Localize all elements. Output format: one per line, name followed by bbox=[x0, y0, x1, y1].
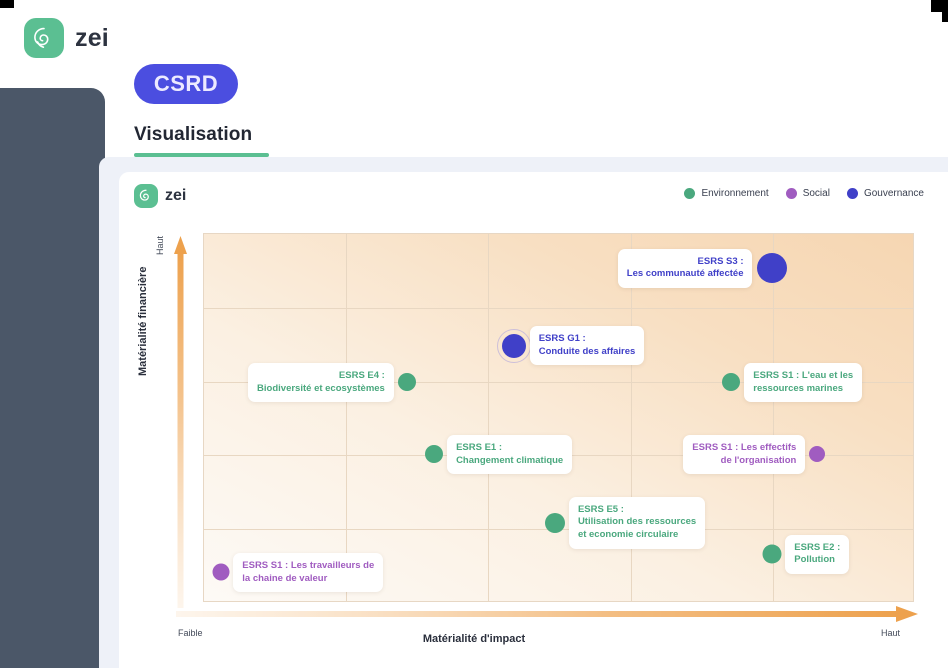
gridline-vertical bbox=[488, 234, 489, 601]
legend-item[interactable]: Gouvernance bbox=[847, 188, 924, 199]
legend-color-dot-icon bbox=[847, 188, 858, 199]
left-sidebar bbox=[0, 88, 105, 668]
legend-item[interactable]: Social bbox=[786, 188, 830, 199]
data-point-label-line: ESRS S1 : L'eau et les bbox=[753, 370, 853, 383]
data-point-label-line: Biodiversité et ecosystèmes bbox=[257, 383, 385, 396]
data-point-label[interactable]: ESRS G1 :Conduite des affaires bbox=[530, 326, 645, 365]
data-point-label[interactable]: ESRS S1 : Les travailleurs dela chaine d… bbox=[233, 553, 383, 592]
data-point-label[interactable]: ESRS E5 :Utilisation des ressourceset ec… bbox=[569, 497, 705, 549]
data-point-label-line: ESRS E2 : bbox=[794, 542, 840, 555]
data-point[interactable] bbox=[502, 334, 526, 358]
data-point-label[interactable]: ESRS E4 :Biodiversité et ecosystèmes bbox=[248, 363, 394, 402]
tab-visualisation[interactable]: Visualisation bbox=[134, 124, 252, 146]
zei-spiral-logo-icon-small bbox=[134, 184, 158, 208]
data-point-label-line: la chaine de valeur bbox=[242, 573, 374, 586]
x-axis-high-label: Haut bbox=[881, 628, 900, 638]
y-axis-title: Matérialité financière bbox=[137, 267, 149, 376]
data-point-label[interactable]: ESRS S1 : L'eau et lesressources marines bbox=[744, 363, 862, 402]
legend-item-label: Environnement bbox=[701, 188, 768, 199]
legend-color-dot-icon bbox=[786, 188, 797, 199]
app-brand: zei bbox=[24, 18, 109, 58]
y-axis-arrow-icon bbox=[174, 236, 187, 608]
data-point-label-line: ESRS E1 : bbox=[456, 442, 563, 455]
legend-item[interactable]: Environnement bbox=[684, 188, 768, 199]
x-axis-title: Matérialité d'impact bbox=[0, 633, 948, 645]
data-point-label-line: ESRS E4 : bbox=[257, 370, 385, 383]
csrd-badge[interactable]: CSRD bbox=[134, 64, 238, 104]
card-brand-name: zei bbox=[165, 187, 186, 205]
data-point[interactable] bbox=[425, 445, 443, 463]
data-point-label[interactable]: ESRS S1 : Les effectifsde l'organisation bbox=[683, 435, 805, 474]
data-point-label-line: ESRS S1 : Les effectifs bbox=[692, 442, 796, 455]
corner-mark-top-left bbox=[0, 0, 14, 8]
brand-name: zei bbox=[75, 24, 109, 53]
legend-item-label: Gouvernance bbox=[864, 188, 924, 199]
gridline-horizontal bbox=[204, 308, 913, 309]
legend-item-label: Social bbox=[803, 188, 830, 199]
data-point[interactable] bbox=[722, 373, 740, 391]
gridline-vertical bbox=[346, 234, 347, 601]
data-point[interactable] bbox=[762, 545, 781, 564]
data-point[interactable] bbox=[809, 446, 825, 462]
data-point-label-line: ESRS S3 : bbox=[627, 256, 744, 269]
data-point-label-line: ressources marines bbox=[753, 383, 853, 396]
data-point-label-line: et economie circulaire bbox=[578, 529, 696, 542]
card-brand: zei bbox=[134, 184, 186, 208]
data-point[interactable] bbox=[212, 564, 229, 581]
legend-color-dot-icon bbox=[684, 188, 695, 199]
chart-legend: EnvironnementSocialGouvernance bbox=[684, 188, 924, 199]
corner-mark-top-right bbox=[931, 0, 948, 12]
data-point-label-line: ESRS E5 : bbox=[578, 504, 696, 517]
app-root: zei CSRD Visualisation zei Environnement… bbox=[0, 0, 948, 668]
corner-mark-top-right-secondary bbox=[942, 12, 948, 22]
data-point-label-line: Utilisation des ressources bbox=[578, 516, 696, 529]
data-point-label-line: Changement climatique bbox=[456, 455, 563, 468]
data-point-label-line: Conduite des affaires bbox=[539, 346, 636, 359]
data-point[interactable] bbox=[545, 513, 565, 533]
data-point-label-line: Pollution bbox=[794, 554, 840, 567]
data-point[interactable] bbox=[398, 373, 416, 391]
data-point-label[interactable]: ESRS E2 :Pollution bbox=[785, 535, 849, 574]
data-point[interactable] bbox=[757, 253, 787, 283]
data-point-label-line: ESRS S1 : Les travailleurs de bbox=[242, 560, 374, 573]
data-point-label[interactable]: ESRS S3 :Les communauté affectée bbox=[618, 249, 753, 288]
tab-visualisation-label: Visualisation bbox=[134, 124, 252, 145]
data-point-label-line: ESRS G1 : bbox=[539, 333, 636, 346]
data-point-label-line: de l'organisation bbox=[692, 455, 796, 468]
y-axis-high-label: Haut bbox=[155, 236, 165, 255]
x-axis-arrow-icon bbox=[176, 606, 918, 622]
zei-spiral-logo-icon bbox=[24, 18, 64, 58]
data-point-label[interactable]: ESRS E1 :Changement climatique bbox=[447, 435, 572, 474]
data-point-label-line: Les communauté affectée bbox=[627, 268, 744, 281]
x-axis-low-label: Faible bbox=[178, 628, 203, 638]
